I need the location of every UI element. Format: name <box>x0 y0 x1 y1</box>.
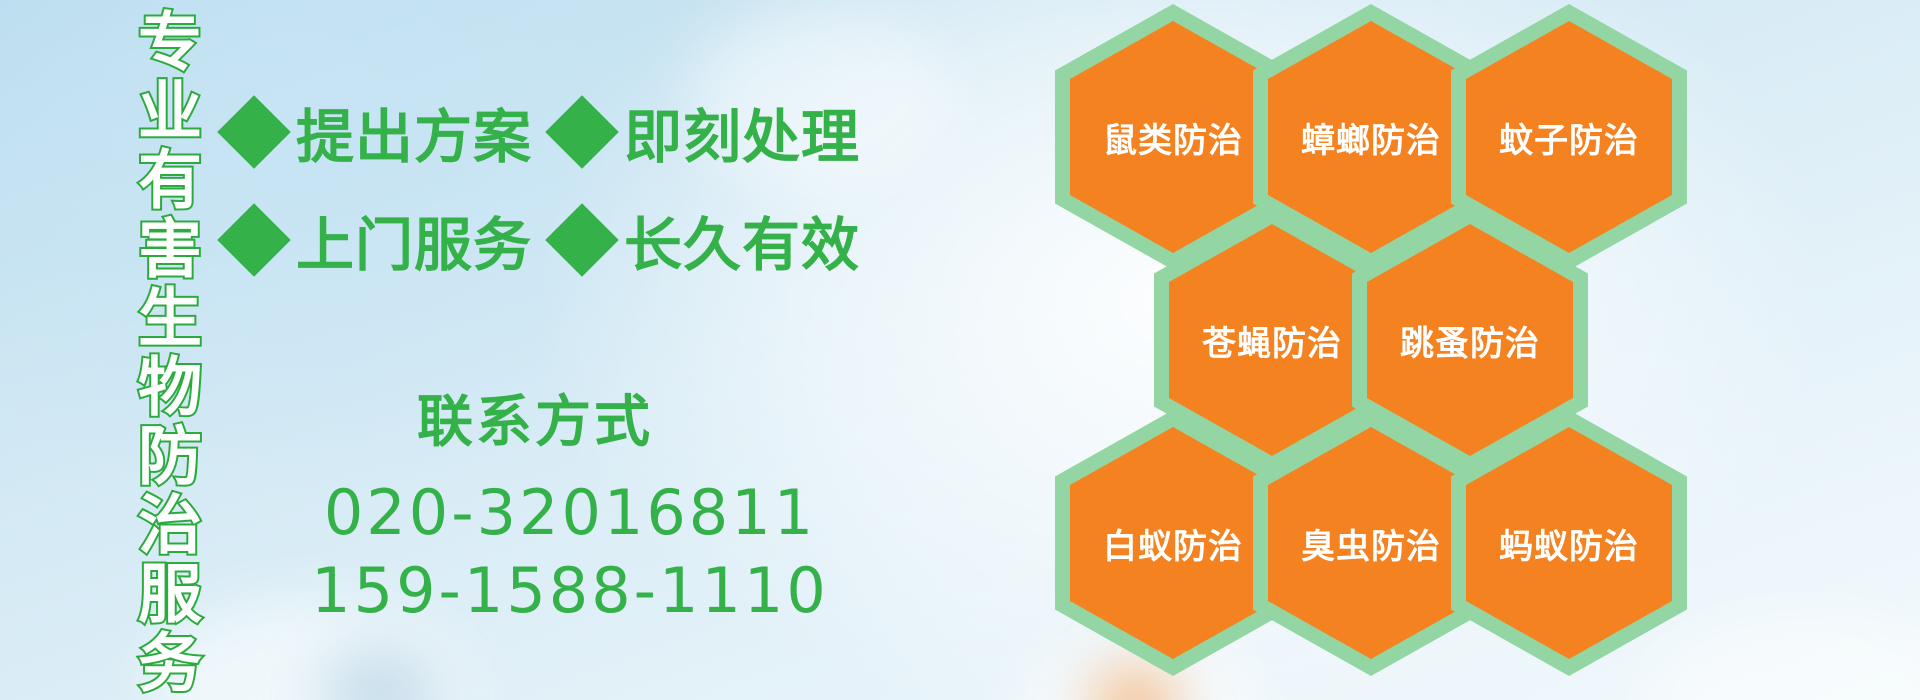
feature-row: 提出方案 即刻处理 <box>228 78 878 186</box>
service-label: 跳蚤防治 <box>1400 316 1540 365</box>
diamond-icon <box>545 203 619 277</box>
vertical-headline: 专业有害生物防治服务 <box>104 8 196 698</box>
service-label: 蟑螂防治 <box>1301 113 1441 162</box>
hex-inner: 鼠类防治 <box>1070 21 1276 253</box>
diamond-icon <box>217 203 291 277</box>
service-label: 鼠类防治 <box>1103 113 1243 162</box>
hex-inner: 跳蚤防治 <box>1367 224 1573 456</box>
feature-item-immediate-action: 即刻处理 <box>556 90 860 174</box>
phone-mobile[interactable]: 159-1588-1110 <box>260 552 880 630</box>
service-label: 蚊子防治 <box>1499 113 1639 162</box>
pest-control-banner: 专业有害生物防治服务 提出方案 即刻处理 上门服务 长久有效 联系方式 <box>0 0 1920 700</box>
service-label: 苍蝇防治 <box>1202 316 1342 365</box>
feature-row: 上门服务 长久有效 <box>228 186 878 294</box>
feature-item-onsite-service: 上门服务 <box>228 198 532 282</box>
hex-inner: 蟑螂防治 <box>1268 21 1474 253</box>
hex-inner: 蚂蚁防治 <box>1466 427 1672 659</box>
hex-inner: 白蚁防治 <box>1070 427 1276 659</box>
contact-heading: 联系方式 <box>190 392 880 454</box>
feature-list: 提出方案 即刻处理 上门服务 长久有效 <box>228 78 878 294</box>
service-label: 蚂蚁防治 <box>1499 519 1639 568</box>
background-blob <box>320 648 440 700</box>
diamond-icon <box>545 95 619 169</box>
service-label: 白蚁防治 <box>1103 519 1243 568</box>
phone-landline[interactable]: 020-32016811 <box>260 474 880 552</box>
hex-inner: 蚊子防治 <box>1466 21 1672 253</box>
feature-item-propose-plan: 提出方案 <box>228 90 532 174</box>
diamond-icon <box>217 95 291 169</box>
feature-label: 长久有效 <box>624 198 860 282</box>
feature-label: 提出方案 <box>296 90 532 174</box>
feature-label: 上门服务 <box>296 198 532 282</box>
feature-item-long-lasting: 长久有效 <box>556 198 860 282</box>
feature-label: 即刻处理 <box>624 90 860 174</box>
hex-inner: 苍蝇防治 <box>1169 224 1375 456</box>
hex-inner: 臭虫防治 <box>1268 427 1474 659</box>
contact-block: 联系方式 020-32016811 159-1588-1110 <box>260 392 880 630</box>
service-hexagon-grid: 鼠类防治 蟑螂防治 蚊子防治 苍蝇防治 跳蚤防治 白蚁防治 <box>1055 0 1785 692</box>
service-label: 臭虫防治 <box>1301 519 1441 568</box>
